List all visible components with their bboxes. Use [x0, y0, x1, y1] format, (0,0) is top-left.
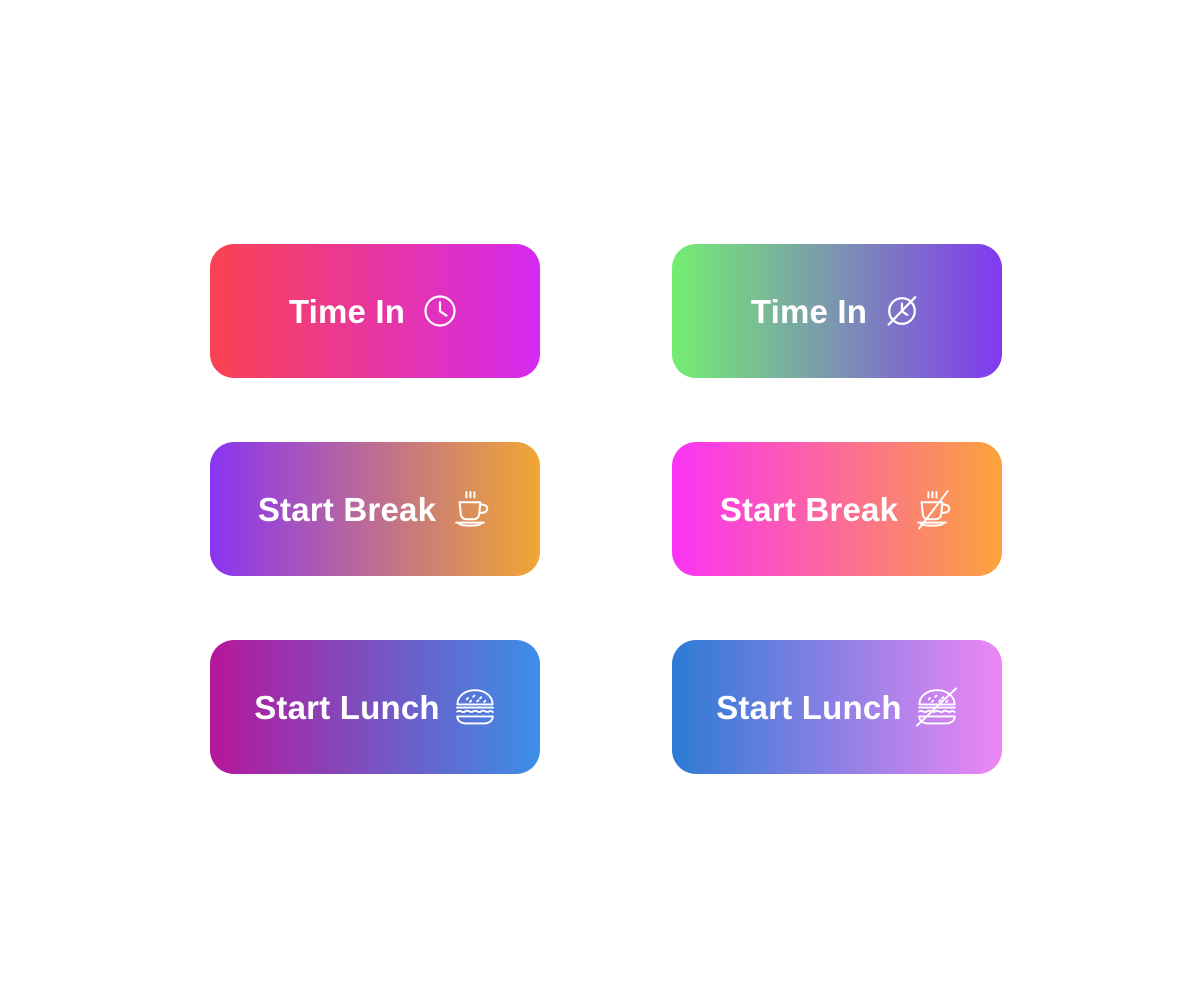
- start-break-button-label: Start Break: [258, 493, 436, 526]
- coffee-cup-icon: [450, 488, 492, 530]
- time-in-disabled-button-label: Time In: [751, 295, 867, 328]
- start-lunch-disabled-button-label: Start Lunch: [716, 691, 902, 724]
- start-break-disabled-button[interactable]: Start Break: [672, 442, 1002, 576]
- clock-icon: [419, 290, 461, 332]
- start-lunch-button-label: Start Lunch: [254, 691, 440, 724]
- coffee-cup-slash-icon: [912, 488, 954, 530]
- start-break-button[interactable]: Start Break: [210, 442, 540, 576]
- time-in-button[interactable]: Time In: [210, 244, 540, 378]
- burger-slash-icon: [916, 686, 958, 728]
- start-lunch-disabled-button[interactable]: Start Lunch: [672, 640, 1002, 774]
- time-in-button-label: Time In: [289, 295, 405, 328]
- burger-icon: [454, 686, 496, 728]
- clock-slash-icon: [881, 290, 923, 332]
- start-lunch-button[interactable]: Start Lunch: [210, 640, 540, 774]
- time-in-disabled-button[interactable]: Time In: [672, 244, 1002, 378]
- start-break-disabled-button-label: Start Break: [720, 493, 898, 526]
- button-showcase-canvas: Time In Time In Start Break: [0, 0, 1200, 1000]
- button-grid: Time In Time In Start Break: [210, 244, 1002, 774]
